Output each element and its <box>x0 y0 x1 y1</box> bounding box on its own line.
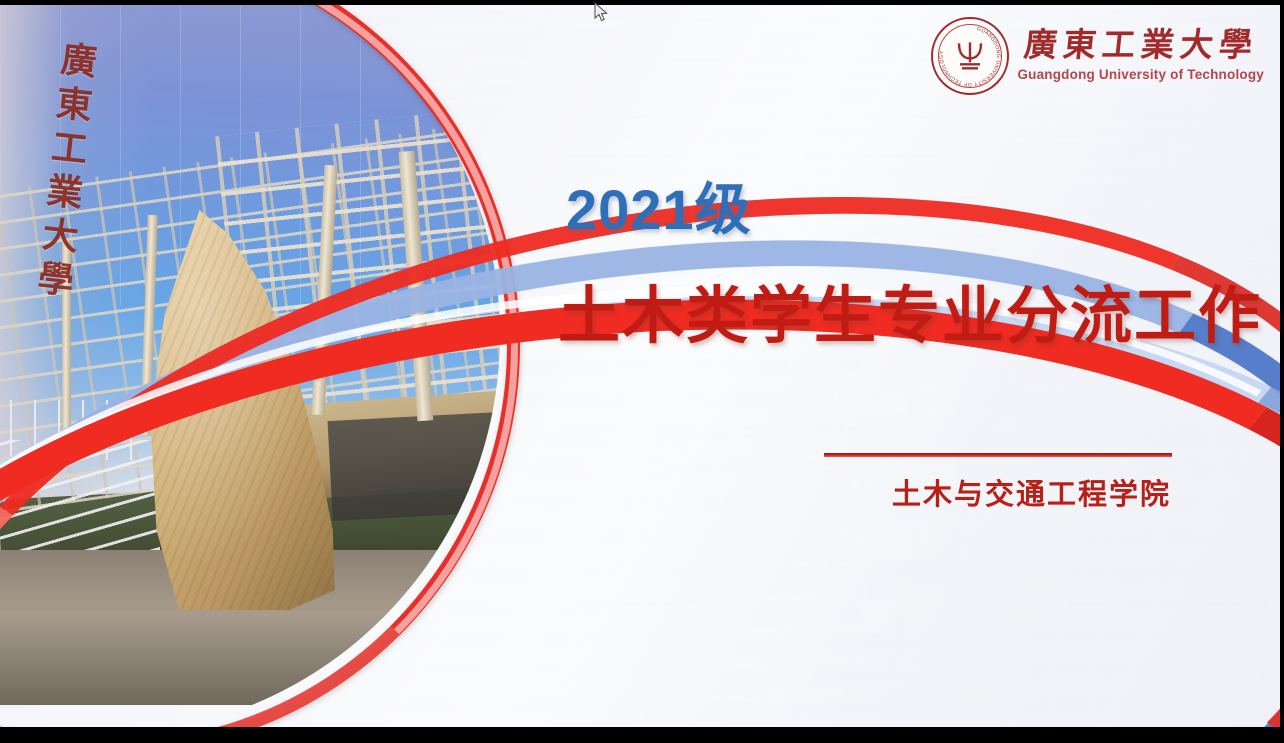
department-name: 土木与交通工程学院 <box>892 471 1171 513</box>
logo-name-en: Guangdong University of Technology <box>1017 68 1264 82</box>
university-logo: GUANGDONG UNIVERSITY OF TECHNOLOGY 廣東工業大… <box>931 17 1264 95</box>
university-crest-icon: GUANGDONG UNIVERSITY OF TECHNOLOGY <box>931 17 1009 95</box>
presentation-slide: 廣東工業大學 GUANGDONG UNIVERSITY OF TECHNOLOG… <box>0 0 1284 743</box>
slide-canvas: 廣東工業大學 GUANGDONG UNIVERSITY OF TECHNOLOG… <box>0 5 1280 727</box>
slide-title: 土木类学生专业分流工作 <box>558 265 1262 355</box>
year-label: 2021级 <box>566 165 752 246</box>
subtitle-rule <box>824 453 1172 457</box>
logo-name-cn: 廣東工業大學 <box>1022 30 1259 63</box>
crest-emblem-icon <box>953 38 987 72</box>
logo-wordmark: 廣東工業大學 Guangdong University of Technolog… <box>1017 30 1264 82</box>
